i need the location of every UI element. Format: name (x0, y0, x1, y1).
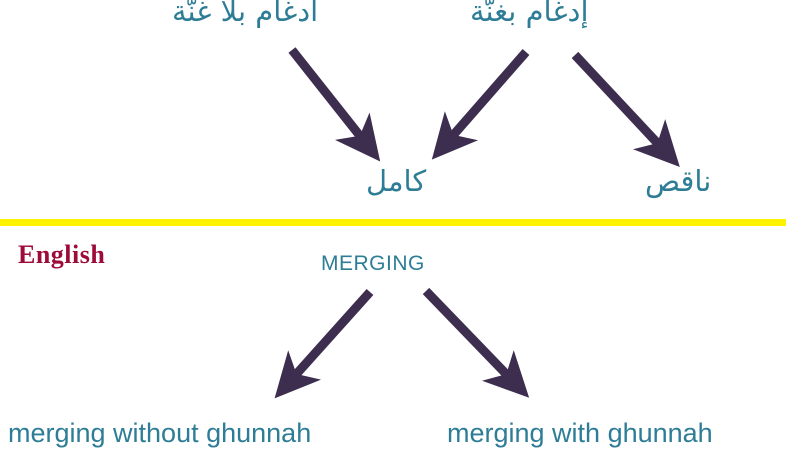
node-merging: Merging (321, 245, 425, 277)
english-section-label: English (18, 240, 105, 270)
yellow-divider-line (0, 219, 786, 226)
diagram-canvas: أدغام بلا غنّة إدغام بغنّة كامل ناقص Eng… (0, 0, 786, 455)
arrow-bighunnah-to-kamil (449, 52, 526, 140)
arrow-merging-to-without (292, 292, 370, 379)
node-idgham-bila-ghunnah: أدغام بلا غنّة (172, 0, 318, 26)
arrow-bila-ghunnah-to-kamil (292, 50, 364, 141)
node-kamil: كامل (366, 166, 426, 196)
node-merging-with-ghunnah: merging with ghunnah (447, 419, 713, 447)
arrow-bighunnah-to-naqis (575, 55, 662, 148)
node-idgham-bighunnah: إدغام بغنّة (470, 0, 589, 26)
node-naqis: ناقص (645, 166, 711, 196)
arrow-merging-to-with (426, 291, 511, 379)
node-merging-without-ghunnah: merging without ghunnah (8, 419, 311, 447)
arrow-layer (0, 0, 786, 455)
